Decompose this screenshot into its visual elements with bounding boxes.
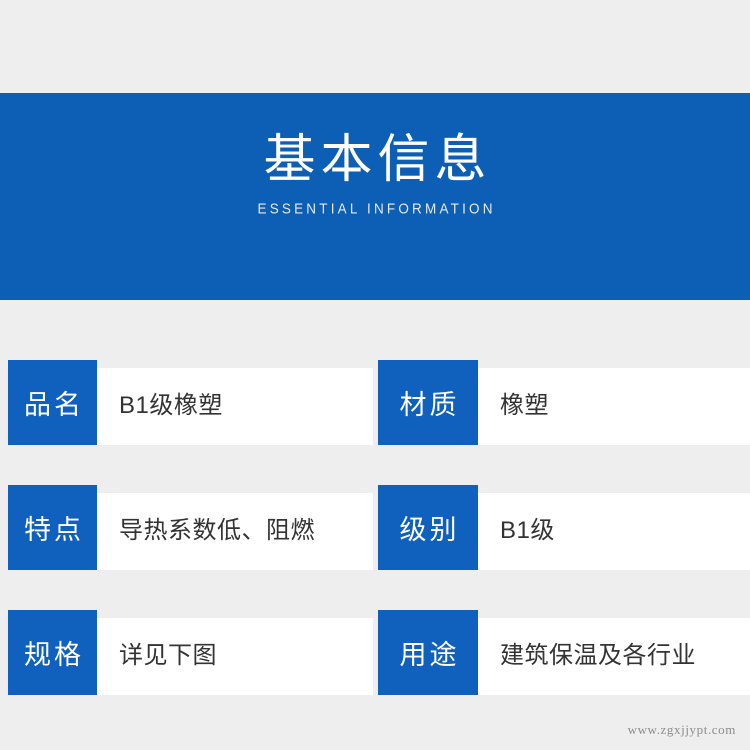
specification-table: 品名 B1级橡塑 材质 橡塑 特点 导热系数低、阻燃 级别 B1级 规格 详见下… <box>0 360 750 735</box>
spec-label-tedian: 特点 <box>8 485 97 570</box>
spec-label-pinming: 品名 <box>8 360 97 445</box>
spec-value-tedian: 导热系数低、阻燃 <box>97 485 373 570</box>
spec-label-guige: 规格 <box>8 610 97 695</box>
table-row: 特点 导热系数低、阻燃 级别 B1级 <box>0 485 750 570</box>
product-info-page: 基本信息 ESSENTIAL INFORMATION 品名 B1级橡塑 材质 橡… <box>0 0 750 750</box>
spec-label-jibie: 级别 <box>378 485 478 570</box>
table-row: 品名 B1级橡塑 材质 橡塑 <box>0 360 750 445</box>
table-row: 规格 详见下图 用途 建筑保温及各行业 <box>0 610 750 695</box>
spec-value-jibie: B1级 <box>478 485 750 570</box>
spec-value-pinming: B1级橡塑 <box>97 360 373 445</box>
spec-label-yongtu: 用途 <box>378 610 478 695</box>
spec-label-caizhi: 材质 <box>378 360 478 445</box>
site-watermark: www.zgxjjypt.com <box>628 722 736 738</box>
spec-value-guige: 详见下图 <box>97 610 373 695</box>
page-banner: 基本信息 ESSENTIAL INFORMATION <box>0 93 750 300</box>
banner-title: 基本信息 <box>258 133 491 188</box>
banner-subtitle: ESSENTIAL INFORMATION <box>254 200 495 217</box>
spec-value-yongtu: 建筑保温及各行业 <box>478 610 750 695</box>
spec-value-caizhi: 橡塑 <box>478 360 750 445</box>
